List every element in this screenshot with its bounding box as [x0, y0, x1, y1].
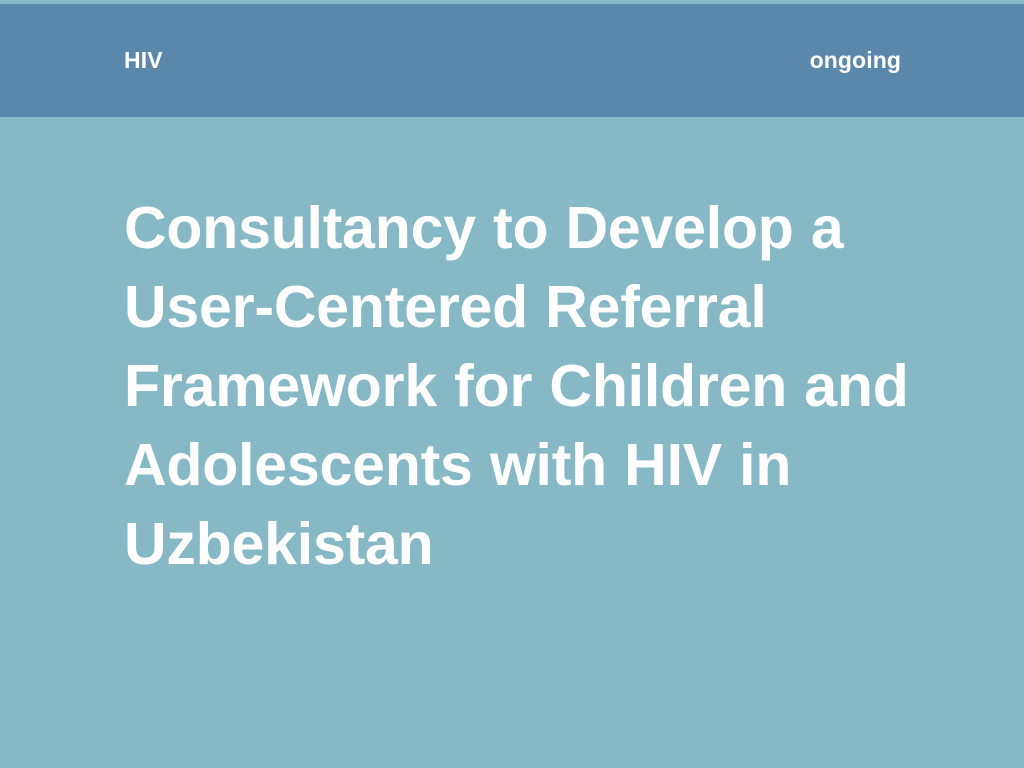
topic-label: HIV	[124, 47, 163, 75]
status-badge: ongoing	[810, 47, 901, 75]
card-header-content: HIV ongoing	[124, 4, 901, 117]
vacancy-card[interactable]: HIV ongoing Consultancy to Develop a Use…	[0, 0, 1024, 768]
page-title: Consultancy to Develop a User-Centered R…	[124, 189, 914, 584]
card-body: Consultancy to Develop a User-Centered R…	[0, 117, 1024, 768]
card-header-bar: HIV ongoing	[0, 4, 1024, 117]
